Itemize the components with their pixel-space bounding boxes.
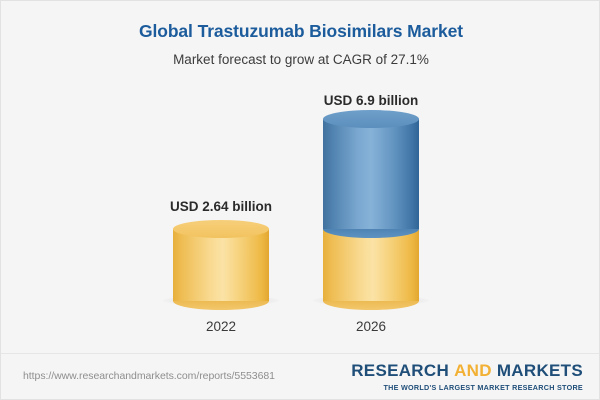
cylinder-top-cap bbox=[173, 220, 269, 238]
report-url-link[interactable]: https://www.researchandmarkets.com/repor… bbox=[23, 370, 275, 382]
cylinder-body bbox=[323, 229, 419, 301]
brand-logo[interactable]: RESEARCH AND MARKETS THE WORLD'S LARGEST… bbox=[351, 362, 583, 392]
bar-value-label-2022: USD 2.64 billion bbox=[146, 199, 296, 215]
category-label-2026: 2026 bbox=[296, 319, 446, 335]
category-label-2022: 2022 bbox=[146, 319, 296, 335]
chart-subtitle: Market forecast to grow at CAGR of 27.1% bbox=[1, 52, 600, 68]
logo-tagline: THE WORLD'S LARGEST MARKET RESEARCH STOR… bbox=[351, 383, 583, 392]
logo-word-markets: MARKETS bbox=[497, 361, 583, 380]
page-title: Global Trastuzumab Biosimilars Market bbox=[1, 21, 600, 42]
logo-wordmark: RESEARCH AND MARKETS bbox=[351, 362, 583, 380]
bar-cylinder-2022[interactable] bbox=[173, 229, 269, 301]
infographic-card: Global Trastuzumab Biosimilars Market Ma… bbox=[0, 0, 600, 400]
bar-cylinder-2026[interactable] bbox=[323, 119, 419, 301]
bar-group-2022: USD 2.64 billion 2022 bbox=[146, 81, 296, 346]
logo-word-research: RESEARCH bbox=[351, 361, 449, 380]
footer: https://www.researchandmarkets.com/repor… bbox=[1, 354, 600, 400]
logo-word-and: AND bbox=[454, 361, 492, 380]
bar-segment-growth-2026 bbox=[323, 119, 419, 229]
bar-group-2026: USD 6.9 billion 2026 bbox=[296, 81, 446, 346]
cylinder-body bbox=[173, 229, 269, 301]
bar-value-label-2026: USD 6.9 billion bbox=[296, 93, 446, 109]
bar-segment-base-2026 bbox=[323, 229, 419, 301]
bar-segment-base-2022 bbox=[173, 229, 269, 301]
chart-plot-area: USD 2.64 billion 2022 USD 6.9 billion bbox=[1, 81, 600, 346]
chart-header: Global Trastuzumab Biosimilars Market Ma… bbox=[1, 1, 600, 68]
cylinder-top-cap bbox=[323, 110, 419, 128]
cylinder-body bbox=[323, 119, 419, 229]
